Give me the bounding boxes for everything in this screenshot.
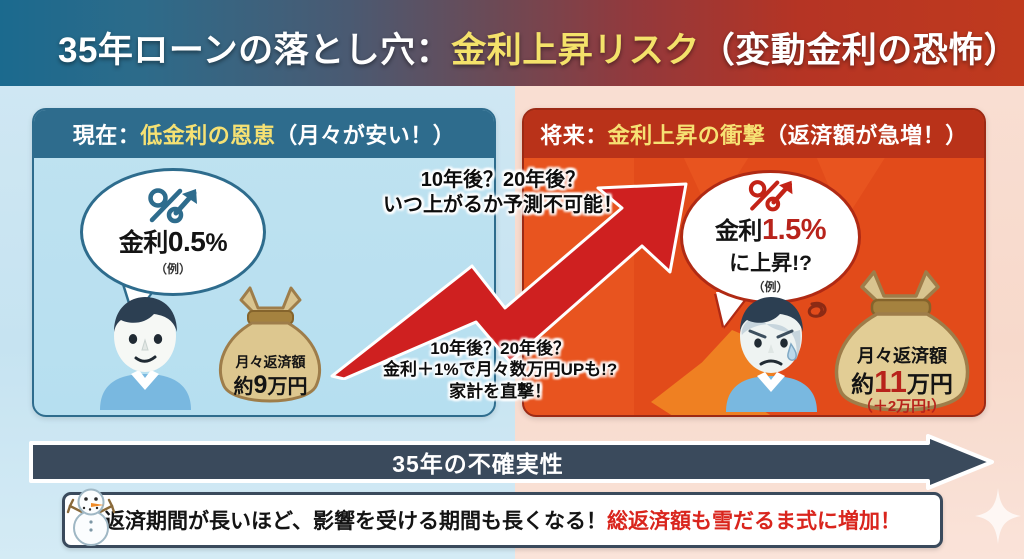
panel-future-header: 将来：金利上昇の衝撃（返済額が急増！）: [524, 110, 984, 158]
footer-note-highlight: 総返済額も雪だるま式に増加！: [607, 510, 901, 533]
timeline-label: 35年の不確実性: [28, 434, 928, 490]
panel-current-header: 現在：低金利の恩恵（月々が安い！）: [34, 110, 494, 158]
amount-value-current: 9: [254, 371, 268, 399]
footer-note-text: 返済期間が長いほど、影響を受ける期間も長くなる！総返済額も雪だるま式に増加！: [104, 505, 901, 535]
middle-text-bottom-line-2: 金利＋1%で月々数万円UPも!?: [383, 359, 617, 380]
panel-current-header-highlight: 低金利の恩恵: [140, 123, 275, 148]
footer-note-box: 返済期間が長いほど、影響を受ける期間も長くなる！総返済額も雪だるま式に増加！: [62, 492, 943, 548]
amount-unit-current: 万円: [267, 376, 307, 398]
middle-text-top: 10年後？20年後？ いつ上がるか予測不可能！: [383, 168, 623, 218]
rate-value-future: 1.5: [762, 214, 801, 246]
snowman-icon: [60, 478, 122, 546]
panel-current-header-part-1: 現在：: [73, 123, 141, 148]
money-bag-current-amount: 約9万円: [208, 370, 333, 400]
rate-label-future: 金利: [715, 218, 762, 245]
sparkle-icon: [975, 488, 1021, 544]
smiling-person-icon: [88, 292, 203, 410]
rate-unit-future: %: [801, 214, 826, 246]
rate-value-current: 0.5: [168, 226, 205, 257]
panel-future-header-highlight: 金利上昇の衝撃: [608, 123, 766, 148]
rate-note-current: （例）: [155, 260, 191, 277]
footer-note-plain: 返済期間が長いほど、影響を受ける期間も長くなる！: [104, 510, 607, 533]
amount-value-future: 11: [874, 364, 907, 399]
rate-bubble-future-value: 金利1.5%: [715, 211, 826, 247]
percent-rising-icon: [745, 179, 797, 213]
page-title-highlight: 金利上昇リスク: [451, 31, 700, 70]
amount-unit-future: 万円: [907, 371, 953, 397]
infographic-root: 35年ローンの落とし穴：金利上昇リスク（変動金利の恐怖） 現在：低金利の恩恵（月…: [0, 0, 1024, 559]
panel-current-header-part-2: （月々が安い！）: [275, 123, 455, 148]
header-banner: 35年ローンの落とし穴：金利上昇リスク（変動金利の恐怖）: [0, 0, 1024, 86]
panel-future-header-part-1: 将来：: [540, 123, 608, 148]
worried-crying-person-icon: [712, 290, 832, 412]
page-title: 35年ローンの落とし穴：金利上昇リスク（変動金利の恐怖）: [58, 22, 1019, 73]
middle-text-bottom-line-3: 家計を直撃！: [383, 381, 617, 402]
money-bag-current-label: 月々返済額: [208, 352, 333, 372]
panel-future-header-text: 将来：金利上昇の衝撃（返済額が急増！）: [540, 118, 968, 150]
middle-text-bottom: 10年後？20年後？ 金利＋1%で月々数万円UPも!? 家計を直撃！: [383, 338, 617, 402]
rate-bubble-current-value: 金利0.5%: [119, 223, 227, 259]
middle-text-top-line-1: 10年後？20年後？: [383, 168, 623, 193]
money-bag-future: 月々返済額 約11万円 （＋2万円!）: [822, 262, 982, 420]
middle-text-bottom-line-1: 10年後？20年後？: [383, 338, 617, 359]
amount-prefix-current: 約: [234, 376, 254, 398]
rate-bubble-current: 金利0.5% （例）: [80, 168, 266, 296]
rate-label-current: 金利: [119, 229, 168, 257]
rate-rise-text-future: に上昇!?: [729, 247, 812, 277]
panel-future-header-part-2: （返済額が急増！）: [765, 123, 968, 148]
page-title-part-2: （変動金利の恐怖）: [700, 31, 1020, 70]
rate-unit-current: %: [205, 229, 227, 257]
middle-text-top-line-2: いつ上がるか予測不可能！: [383, 193, 623, 218]
percent-rising-icon: [146, 187, 200, 225]
amount-prefix-future: 約: [851, 371, 874, 397]
panel-current-header-text: 現在：低金利の恩恵（月々が安い！）: [73, 118, 456, 150]
money-bag-current: 月々返済額 約9万円: [208, 278, 333, 410]
money-bag-future-delta: （＋2万円!）: [822, 395, 982, 416]
timeline-arrow-bar: 35年の不確実性: [28, 434, 995, 490]
page-title-part-1: 35年ローンの落とし穴：: [58, 31, 451, 70]
